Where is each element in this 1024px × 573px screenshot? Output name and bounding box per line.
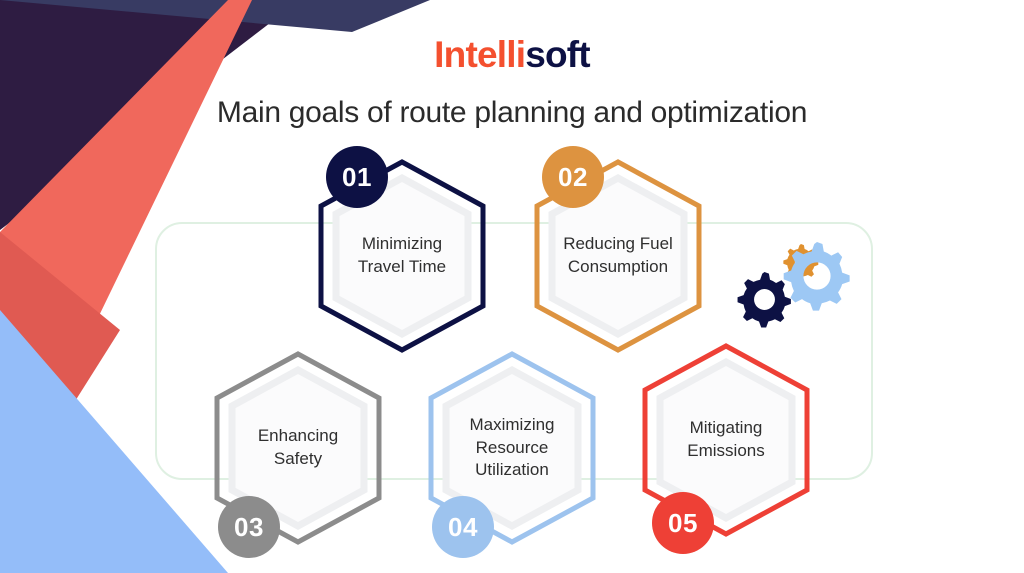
hexagon-label-line-2: Emissions xyxy=(687,441,764,460)
hexagon-label-line-3: Utilization xyxy=(475,460,549,479)
hexagon-badge-05: 05 xyxy=(652,492,714,554)
hexagon-badge-03: 03 xyxy=(218,496,280,558)
hexagon-label-line-1: Mitigating xyxy=(690,418,763,437)
hexagon-card-04[interactable]: Maximizing Resource Utilization 04 xyxy=(412,348,612,548)
hexagon-label-line-2: Resource xyxy=(476,438,549,457)
hexagon-label-line-1: Minimizing xyxy=(362,234,442,253)
hexagon-badge-01: 01 xyxy=(326,146,388,208)
hexagon-label-line-2: Safety xyxy=(274,449,322,468)
hexagon-card-03[interactable]: Enhancing Safety 03 xyxy=(198,348,398,548)
hexagon-label-line-1: Reducing Fuel xyxy=(563,234,673,253)
hexagon-label-line-2: Travel Time xyxy=(358,257,446,276)
hexagon-label-line-1: Maximizing xyxy=(469,415,554,434)
hexagon-group: Minimizing Travel Time 01 Reducing Fuel … xyxy=(0,0,1024,573)
hexagon-card-05[interactable]: Mitigating Emissions 05 xyxy=(626,340,826,540)
hexagon-badge-04: 04 xyxy=(432,496,494,558)
hexagon-card-01[interactable]: Minimizing Travel Time 01 xyxy=(302,156,502,356)
hexagon-badge-02: 02 xyxy=(542,146,604,208)
hexagon-label-line-2: Consumption xyxy=(568,257,668,276)
hexagon-label-line-1: Enhancing xyxy=(258,426,338,445)
hexagon-card-02[interactable]: Reducing Fuel Consumption 02 xyxy=(518,156,718,356)
infographic-slide: Intellisoft Main goals of route planning… xyxy=(0,0,1024,573)
